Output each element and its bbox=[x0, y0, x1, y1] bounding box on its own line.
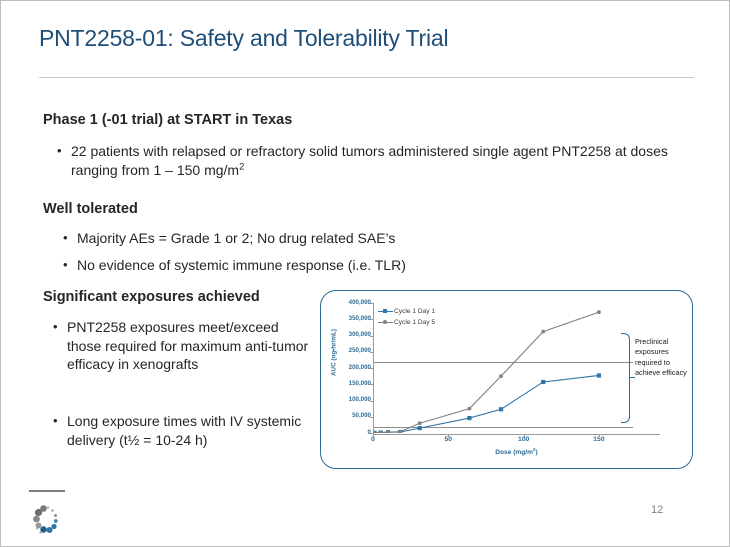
bullet-text: PNT2258 exposures meet/exceed those requ… bbox=[67, 318, 313, 374]
bullet-dot-icon: • bbox=[57, 142, 71, 179]
section-heading-phase1: Phase 1 (-01 trial) at START in Texas bbox=[43, 112, 292, 128]
chart-y-tick: 250,000 bbox=[321, 347, 371, 356]
bullet-exposures-meet-exceed: • PNT2258 exposures meet/exceed those re… bbox=[53, 318, 313, 374]
chart-x-tick-mark bbox=[524, 434, 525, 437]
chart-x-tick-label: 50 bbox=[433, 436, 463, 443]
chart-legend-label: Cycle 1 Day 1 bbox=[394, 308, 435, 315]
chart-data-point bbox=[541, 330, 545, 334]
preclinical-bracket-icon bbox=[621, 333, 630, 423]
chart-y-tick-label: 300,000 bbox=[349, 331, 371, 338]
chart-legend-marker-icon bbox=[383, 309, 387, 313]
chart-y-tick-label: 200,000 bbox=[349, 364, 371, 371]
chart-y-tick: 300,000 bbox=[321, 331, 371, 340]
bullet-dot-icon: • bbox=[53, 318, 67, 374]
chart-y-tick: 50,000 bbox=[321, 412, 371, 421]
chart-inner: AUC (ng•hr/mL) Dose (mg/m2) 050,000100,0… bbox=[321, 291, 694, 470]
bullet-text: Long exposure times with IV systemic del… bbox=[67, 412, 318, 449]
chart-x-tick-mark bbox=[448, 434, 449, 437]
chart-series-line bbox=[375, 312, 599, 433]
bullet-immune-response: • No evidence of systemic immune respons… bbox=[63, 256, 483, 275]
chart-y-tick-label: 350,000 bbox=[349, 315, 371, 322]
chart-y-tick-label: 0 bbox=[368, 429, 371, 436]
section-heading-well-tolerated: Well tolerated bbox=[43, 201, 138, 217]
chart-legend-item: Cycle 1 Day 1 bbox=[378, 306, 435, 317]
chart-data-point bbox=[499, 374, 503, 378]
company-logo-icon bbox=[28, 499, 68, 539]
chart-y-tick: 350,000 bbox=[321, 315, 371, 324]
title-divider bbox=[39, 77, 694, 78]
chart-series-line bbox=[375, 375, 599, 432]
chart-y-tick-label: 150,000 bbox=[349, 380, 371, 387]
chart-legend-label: Cycle 1 Day 5 bbox=[394, 319, 435, 326]
chart-y-tick-label: 50,000 bbox=[352, 412, 371, 419]
preclinical-annotation-text: Preclinical exposures required to achiev… bbox=[635, 337, 693, 378]
bullet-dot-icon: • bbox=[53, 412, 67, 449]
chart-x-tick-label: 0 bbox=[358, 436, 388, 443]
chart-x-tick-mark bbox=[599, 434, 600, 437]
chart-data-point bbox=[418, 426, 422, 430]
slide: PNT2258-01: Safety and Tolerability Tria… bbox=[0, 0, 730, 547]
chart-data-point bbox=[597, 373, 601, 377]
bullet-long-exposure-times: • Long exposure times with IV systemic d… bbox=[53, 412, 318, 449]
chart-y-tick-label: 250,000 bbox=[349, 347, 371, 354]
bullet-text: Majority AEs = Grade 1 or 2; No drug rel… bbox=[77, 229, 395, 248]
auc-dose-chart-panel: AUC (ng•hr/mL) Dose (mg/m2) 050,000100,0… bbox=[320, 290, 693, 469]
chart-legend-swatch-icon bbox=[378, 311, 393, 312]
bullet-text: 22 patients with relapsed or refractory … bbox=[71, 142, 687, 179]
chart-y-tick: 200,000 bbox=[321, 364, 371, 373]
chart-x-tick-label: 150 bbox=[584, 436, 614, 443]
chart-data-point bbox=[467, 416, 471, 420]
bullet-dot-icon: • bbox=[63, 256, 77, 275]
page-number: 12 bbox=[651, 504, 663, 516]
bullet-text: No evidence of systemic immune response … bbox=[77, 256, 406, 275]
chart-x-tick-label: 100 bbox=[509, 436, 539, 443]
chart-data-point bbox=[499, 407, 503, 411]
chart-legend-swatch-icon bbox=[378, 322, 393, 323]
chart-data-point bbox=[597, 310, 601, 314]
chart-y-tick-label: 100,000 bbox=[349, 396, 371, 403]
chart-x-tick-mark bbox=[373, 434, 374, 437]
chart-legend: Cycle 1 Day 1Cycle 1 Day 5 bbox=[378, 306, 435, 328]
bullet-dot-icon: • bbox=[63, 229, 77, 248]
page-title: PNT2258-01: Safety and Tolerability Tria… bbox=[39, 25, 448, 52]
bullet-patients: • 22 patients with relapsed or refractor… bbox=[57, 142, 687, 179]
chart-x-axis bbox=[373, 434, 660, 435]
chart-data-point bbox=[541, 380, 545, 384]
section-heading-significant-exposures: Significant exposures achieved bbox=[43, 289, 260, 305]
chart-data-point bbox=[468, 407, 472, 411]
footer-divider bbox=[29, 490, 65, 492]
chart-legend-item: Cycle 1 Day 5 bbox=[378, 317, 435, 328]
bullet-adverse-events: • Majority AEs = Grade 1 or 2; No drug r… bbox=[63, 229, 483, 248]
chart-legend-marker-icon bbox=[383, 320, 387, 324]
chart-data-point bbox=[418, 421, 422, 425]
chart-y-tick: 400,000 bbox=[321, 299, 371, 308]
chart-y-tick: 150,000 bbox=[321, 380, 371, 389]
chart-y-tick-label: 400,000 bbox=[349, 299, 371, 306]
chart-x-axis-title: Dose (mg/m2) bbox=[373, 449, 660, 456]
chart-y-tick: 100,000 bbox=[321, 396, 371, 405]
